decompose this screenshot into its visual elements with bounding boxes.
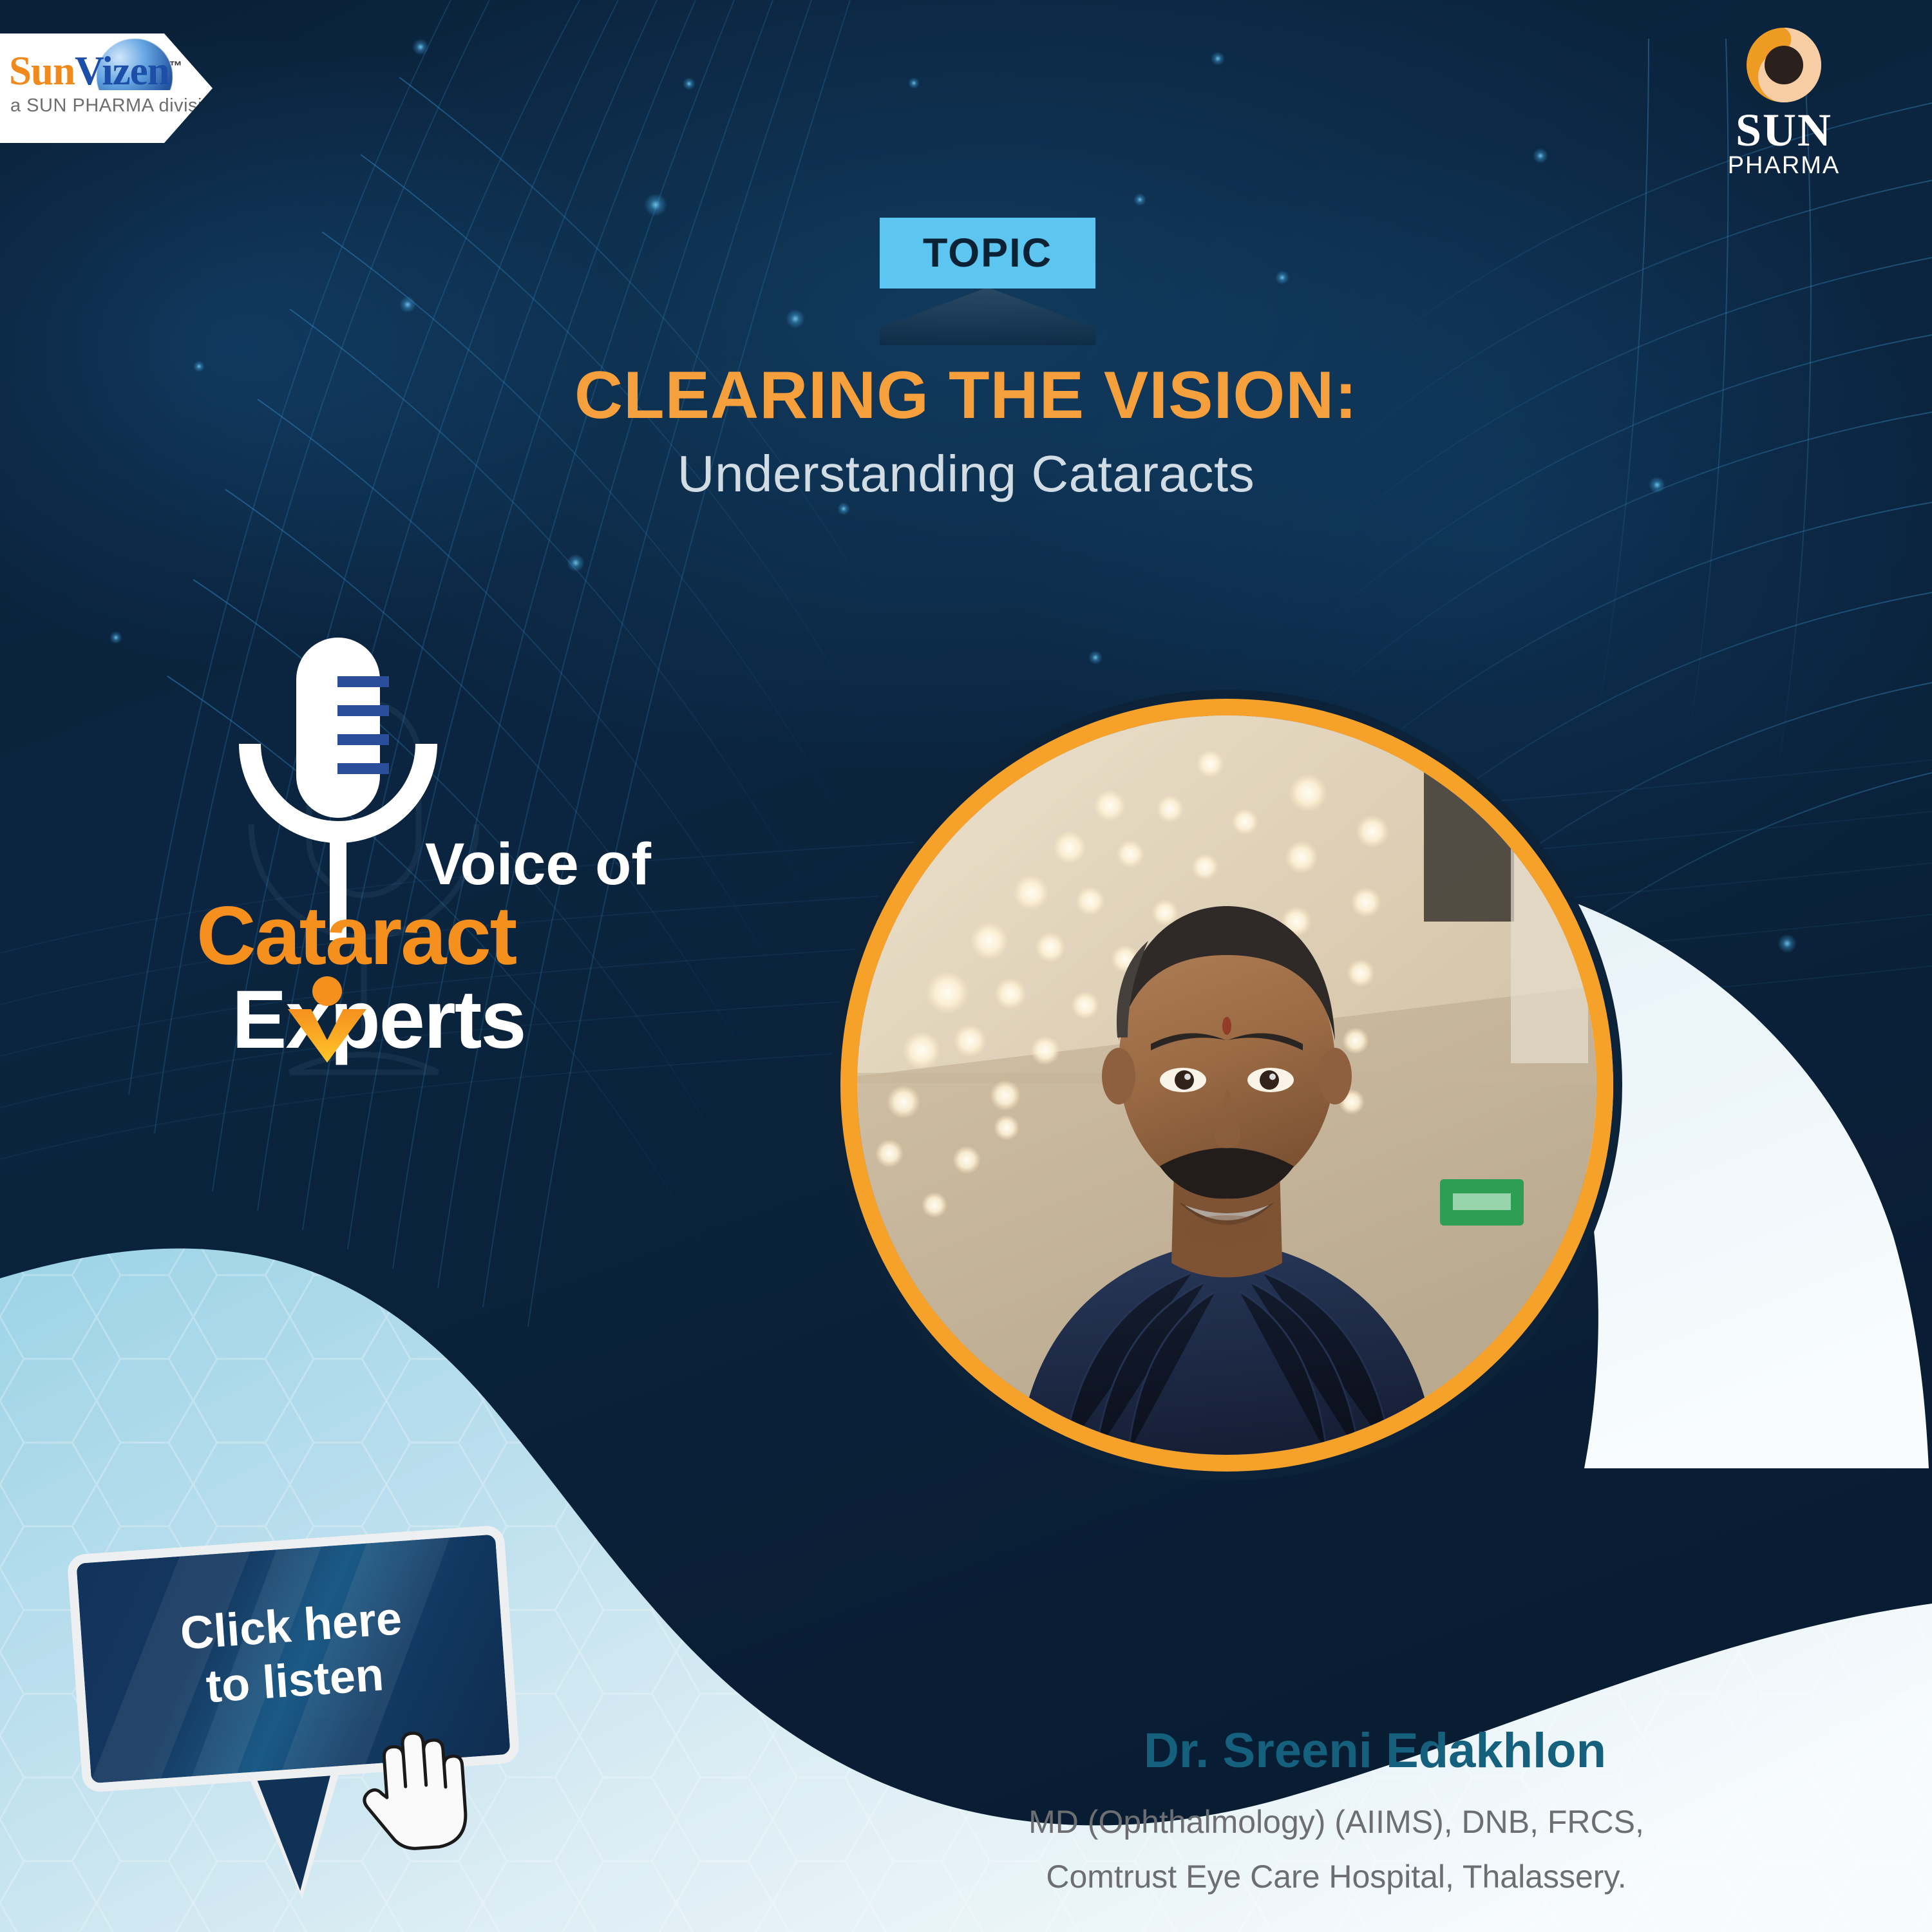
glow-dot (908, 77, 920, 89)
logo-trademark: ™ (169, 59, 182, 73)
glow-dot (1088, 650, 1103, 665)
podcast-logo: Voice of Cataract Experts (213, 631, 721, 1121)
glow-dot (567, 554, 585, 572)
page-subtitle: Understanding Cataracts (0, 444, 1932, 504)
speaker-photo (840, 699, 1613, 1472)
speaker-credentials: MD (Ophthalmology) (AIIMS), DNB, FRCS, (837, 1803, 1835, 1841)
glow-dot (837, 502, 850, 515)
glow-dot (399, 296, 416, 313)
topic-badge: TOPIC (880, 218, 1095, 289)
glow-dot (1133, 193, 1146, 206)
glow-dot (1533, 148, 1548, 164)
poster-canvas: SunVizen™ a SUN PHARMA division SUN PHAR… (0, 0, 1932, 1932)
sun-pharma-pharma-text: PHARMA (1707, 153, 1861, 180)
sunvizen-logo: SunVizen™ a SUN PHARMA division (0, 33, 213, 143)
logo-sun-text: Sun (9, 48, 75, 93)
sun-pharma-sun-text: SUN (1707, 109, 1861, 151)
sun-pharma-logo: SUN PHARMA (1707, 26, 1861, 180)
glow-dot (683, 77, 696, 90)
sun-swirl-icon (1745, 26, 1823, 104)
topic-badge-label: TOPIC (923, 230, 1052, 276)
speaker-affiliation: Comtrust Eye Care Hospital, Thalassery. (837, 1858, 1835, 1895)
logo-vizen-text: Vizen (75, 48, 169, 93)
speaker-name: Dr. Sreeni Edakhlon (914, 1723, 1835, 1779)
glow-dot (644, 193, 667, 216)
avatar (857, 715, 1596, 1455)
glow-dot (109, 631, 122, 644)
topic-badge-arrow (880, 287, 1095, 345)
page-title: CLEARING THE VISION: (0, 357, 1932, 434)
glow-dot (1211, 52, 1225, 66)
podcast-line3: Experts (232, 972, 526, 1067)
person-x-icon (285, 976, 369, 1063)
cta-line2: to listen (204, 1649, 385, 1712)
glow-dot (1275, 270, 1289, 285)
podcast-line2: Cataract (196, 889, 516, 983)
glow-dot (786, 309, 805, 328)
click-here-to-listen-button[interactable]: Click here to listen (66, 1524, 538, 1877)
glow-dot (412, 39, 429, 55)
hand-pointer-icon (356, 1715, 471, 1854)
logo-tagline: a SUN PHARMA division (10, 95, 223, 117)
